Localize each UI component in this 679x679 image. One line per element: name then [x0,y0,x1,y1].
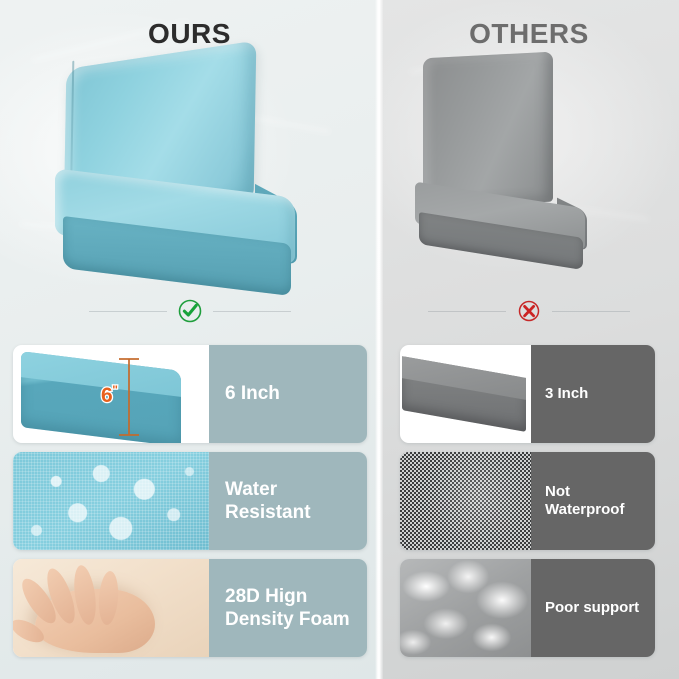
teal-cushion-thickness-photo: 6" [13,345,209,443]
ours-verdict [0,296,379,326]
grey-foam-block [402,356,526,432]
ours-product-image [55,55,315,290]
thickness-callout-unit: " [112,383,117,397]
hand-pressing-foam-photo [13,559,209,657]
foam-surface [13,559,209,657]
feature-label: Water Resistant [209,452,367,550]
thickness-callout-value: 6 [101,384,112,407]
water-beading-on-fabric-photo [13,452,209,550]
dimension-cap-bottom [119,434,139,436]
column-divider [375,0,383,679]
thickness-callout: 6" [101,383,117,408]
mesh-texture [400,452,531,550]
feature-card: Water Resistant [13,452,367,550]
verdict-rule-right [552,311,630,312]
feature-card: Not Waterproof [400,452,655,550]
feature-label: Poor support [531,559,655,657]
fiber-fill-texture [400,559,531,657]
dark-mesh-fabric-photo [400,452,531,550]
dimension-cap-top [119,358,139,360]
ours-feature-cards: 6" 6 Inch Water Resistant 28D Hi [13,345,367,666]
ours-heading: OURS [0,18,379,50]
dimension-line [128,359,130,435]
grey-cushion-thickness-photo [400,345,531,443]
feature-label: 6 Inch [209,345,367,443]
feature-card: 6" 6 Inch [13,345,367,443]
others-back-cushion [423,52,553,209]
others-verdict [379,296,679,326]
others-feature-cards: 3 Inch Not Waterproof Poor support [400,345,655,666]
comparison-infographic: OURS OTHERS [0,0,679,679]
feature-label: 3 Inch [531,345,655,443]
verdict-rule-left [89,311,167,312]
feature-card: 28D Hign Density Foam [13,559,367,657]
loose-fiber-fill-photo [400,559,531,657]
verdict-rule-right [213,311,291,312]
feature-label: Not Waterproof [531,452,655,550]
x-circle-icon [516,298,542,324]
others-heading: OTHERS [379,18,679,50]
feature-card: Poor support [400,559,655,657]
water-droplets [13,452,209,550]
verdict-rule-left [428,311,506,312]
feature-label: 28D Hign Density Foam [209,559,367,657]
others-product-image [415,55,600,290]
feature-card: 3 Inch [400,345,655,443]
check-circle-icon [177,298,203,324]
